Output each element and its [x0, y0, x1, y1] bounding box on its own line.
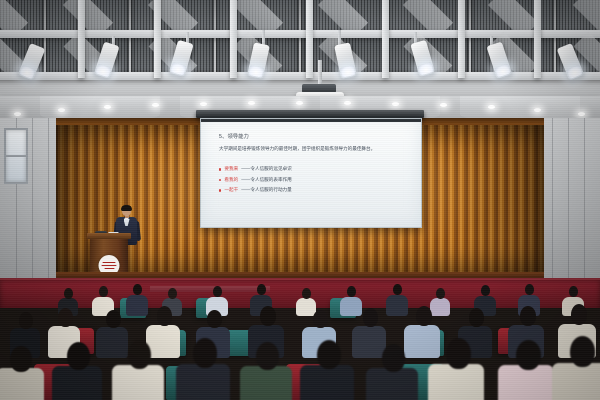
recessed-downlight	[296, 101, 303, 105]
ceiling-beam	[0, 30, 600, 38]
audience-member	[176, 338, 230, 400]
lectern-top-surface	[87, 233, 131, 239]
ceiling-beam	[458, 0, 465, 78]
bullet-keyword: 要我来	[224, 164, 238, 174]
left-side-wall	[0, 118, 62, 300]
recessed-downlight	[488, 105, 495, 109]
bullet-dot-icon	[219, 189, 221, 191]
presentation-slide: 5、领导能力 大学期间是培养锻炼领导力的最佳时期，团学组织是锻炼领导力的最佳舞台…	[201, 119, 421, 227]
ceiling-coffer	[0, 0, 44, 34]
bullet-keyword: 一起干	[224, 185, 238, 195]
audience-member	[126, 284, 148, 314]
recessed-downlight	[200, 102, 207, 106]
recessed-downlight	[248, 101, 255, 105]
recessed-downlight	[392, 102, 399, 106]
bullet-detail: ——令人信服的远见卓识	[241, 164, 292, 174]
screen-housing	[196, 110, 424, 118]
ceiling-beam	[382, 0, 389, 78]
audience-member	[240, 342, 292, 400]
bullet-keyword: 看我的	[224, 175, 238, 185]
audience-member	[112, 340, 164, 400]
ceiling-beam	[534, 0, 541, 78]
ceiling-beam	[78, 0, 85, 78]
bullet-detail: ——令人信服的行动力量	[241, 185, 292, 195]
recessed-downlight	[344, 101, 351, 105]
ceiling-coffer	[386, 0, 469, 34]
recessed-downlight	[58, 108, 65, 112]
ceiling-beam	[230, 0, 237, 78]
audience-member	[366, 344, 418, 400]
recessed-downlight	[440, 103, 447, 107]
audience-member	[0, 346, 44, 400]
seated-audience	[0, 284, 600, 400]
audience-member	[552, 336, 600, 400]
recessed-downlight	[534, 108, 541, 112]
bullet-dot-icon	[219, 168, 221, 170]
coffer-row-back	[0, 0, 600, 34]
slide-heading: 5、领导能力	[219, 133, 407, 140]
ceiling-coffer	[216, 0, 299, 34]
slide-body-text: 大学期间是培养锻炼领导力的最佳时期，团学组织是锻炼领导力的最佳舞台。	[219, 145, 397, 153]
recessed-downlight	[14, 112, 21, 116]
wall-window-panel	[4, 128, 28, 184]
recessed-downlight	[152, 103, 159, 107]
audience-member	[52, 342, 102, 400]
audience-member	[498, 340, 554, 400]
slide-bullet-item: 一起干 ——令人信服的行动力量	[219, 185, 407, 195]
ceiling-beam	[154, 0, 161, 78]
ceiling-beam	[306, 0, 313, 78]
slide-bullet-item: 要我来 ——令人信服的远见卓识	[219, 164, 407, 174]
bullet-dot-icon	[219, 179, 221, 181]
audience-member	[428, 338, 484, 400]
projection-screen: 5、领导能力 大学期间是培养锻炼领导力的最佳时期，团学组织是锻炼领导力的最佳舞台…	[200, 118, 422, 228]
ceiling-coffer	[471, 0, 554, 34]
ceiling-coffer	[46, 38, 129, 74]
ceiling-coffer	[301, 0, 384, 34]
presenter-hair	[121, 205, 132, 211]
slide-bullet-item: 看我的 ——令人信服的表率作用	[219, 175, 407, 185]
ceiling-coffer	[471, 38, 554, 74]
right-side-wall	[538, 118, 600, 300]
auditorium-photo: 5、领导能力 大学期间是培养锻炼领导力的最佳时期，团学组织是锻炼领导力的最佳舞台…	[0, 0, 600, 400]
recessed-downlight	[104, 105, 111, 109]
audience-member	[300, 340, 354, 400]
bullet-detail: ——令人信服的表率作用	[241, 175, 292, 185]
recessed-downlight	[578, 112, 585, 116]
ceiling-coffer	[556, 0, 600, 34]
ceiling-coffer	[46, 0, 129, 34]
slide-bullet-list: 要我来 ——令人信服的远见卓识 看我的 ——令人信服的表率作用 一起干 ——令人…	[219, 164, 407, 195]
ceiling-coffer	[131, 0, 214, 34]
